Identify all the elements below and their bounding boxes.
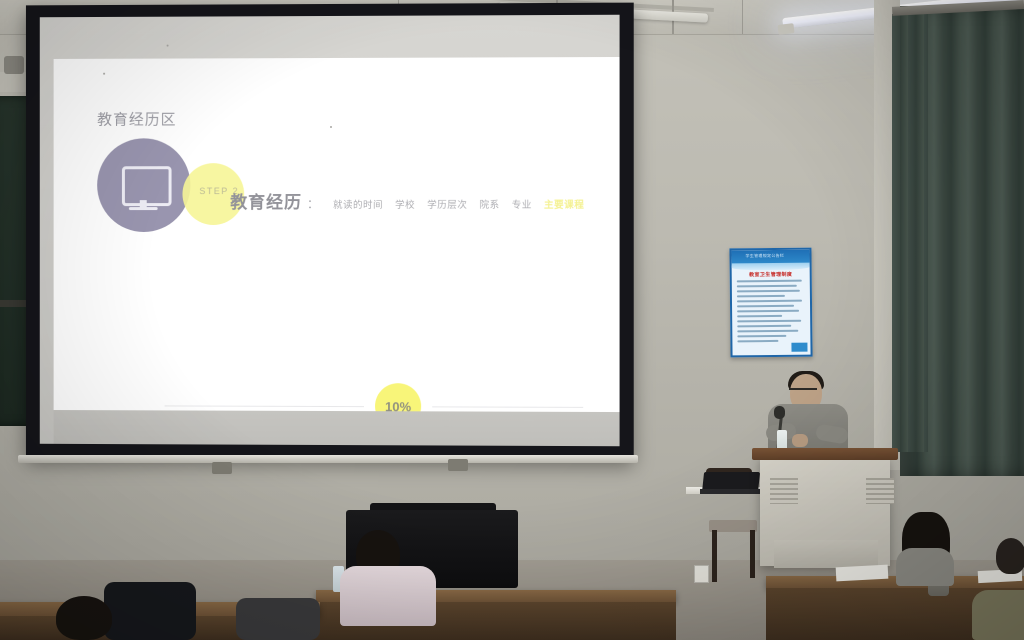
- student-body: [896, 548, 954, 586]
- education-colon: ：: [307, 195, 319, 212]
- window-curtain-inner: [892, 14, 928, 452]
- eyeglasses-icon: [789, 388, 817, 396]
- student-body: [972, 590, 1024, 640]
- podium-base: [774, 540, 878, 568]
- wall-outlet: [694, 565, 709, 583]
- percent-badge-label: 10%: [385, 399, 411, 412]
- chair-leg: [712, 530, 717, 582]
- screen-surface: 教育经历区 STEP 2 教育经历 ： 就读的时间 学校 学历层次 院系 专业 …: [40, 15, 620, 446]
- projector-screen: 教育经历区 STEP 2 教育经历 ： 就读的时间 学校 学历层次 院系 专业 …: [26, 3, 634, 461]
- poster-footer-badge: [791, 343, 807, 352]
- chair-leg: [750, 530, 755, 578]
- slide-divider-left: [165, 405, 364, 407]
- monitor-icon-base: [129, 207, 158, 210]
- poster-body-lines: [737, 280, 806, 346]
- education-line: 教育经历 ： 就读的时间 学校 学历层次 院系 专业 主要课程: [230, 188, 584, 213]
- screen-bottom-bar: [18, 455, 638, 463]
- percent-badge: 10%: [375, 383, 421, 412]
- education-item-degree-level: 学历层次: [427, 197, 467, 211]
- wall-speaker: [4, 56, 24, 74]
- screen-bracket: [212, 462, 232, 474]
- papers: [836, 565, 889, 582]
- backpack: [236, 598, 320, 640]
- education-item-school: 学校: [395, 197, 415, 211]
- screen-bracket: [448, 459, 468, 471]
- education-item-time: 就读的时间: [333, 197, 383, 211]
- monitor-icon: [122, 166, 172, 206]
- student-body: [340, 566, 436, 626]
- podium-top-surface: [752, 448, 898, 460]
- presenter-hand: [792, 434, 808, 447]
- podium-vent: [866, 478, 894, 504]
- podium-vent: [770, 478, 798, 504]
- backpack: [104, 582, 196, 640]
- education-item-main-courses: 主要课程: [544, 197, 584, 211]
- screen-unlit-band: [54, 410, 620, 446]
- education-item-department: 院系: [479, 197, 499, 211]
- wall-poster: 学生管理规定公告栏 教室卫生管理制度: [729, 248, 812, 358]
- education-heading: 教育经历: [230, 188, 302, 213]
- student-head: [996, 538, 1024, 574]
- poster-title: 教室卫生管理制度: [732, 271, 810, 279]
- slide-divider-right: [432, 406, 583, 408]
- laptop-base: [700, 489, 762, 494]
- poster-wave-graphic: [732, 263, 810, 271]
- light-end-cap: [777, 23, 794, 35]
- projected-slide: 教育经历区 STEP 2 教育经历 ： 就读的时间 学校 学历层次 院系 专业 …: [54, 57, 620, 412]
- poster-header-text: 学生管理规定公告栏: [745, 253, 784, 259]
- classroom-scene: 教育经历区 STEP 2 教育经历 ： 就读的时间 学校 学历层次 院系 专业 …: [0, 0, 1024, 640]
- microphone-icon: [774, 406, 785, 419]
- slide-title: 教育经历区: [97, 108, 176, 129]
- student-head: [56, 596, 112, 640]
- education-item-major: 专业: [512, 197, 532, 211]
